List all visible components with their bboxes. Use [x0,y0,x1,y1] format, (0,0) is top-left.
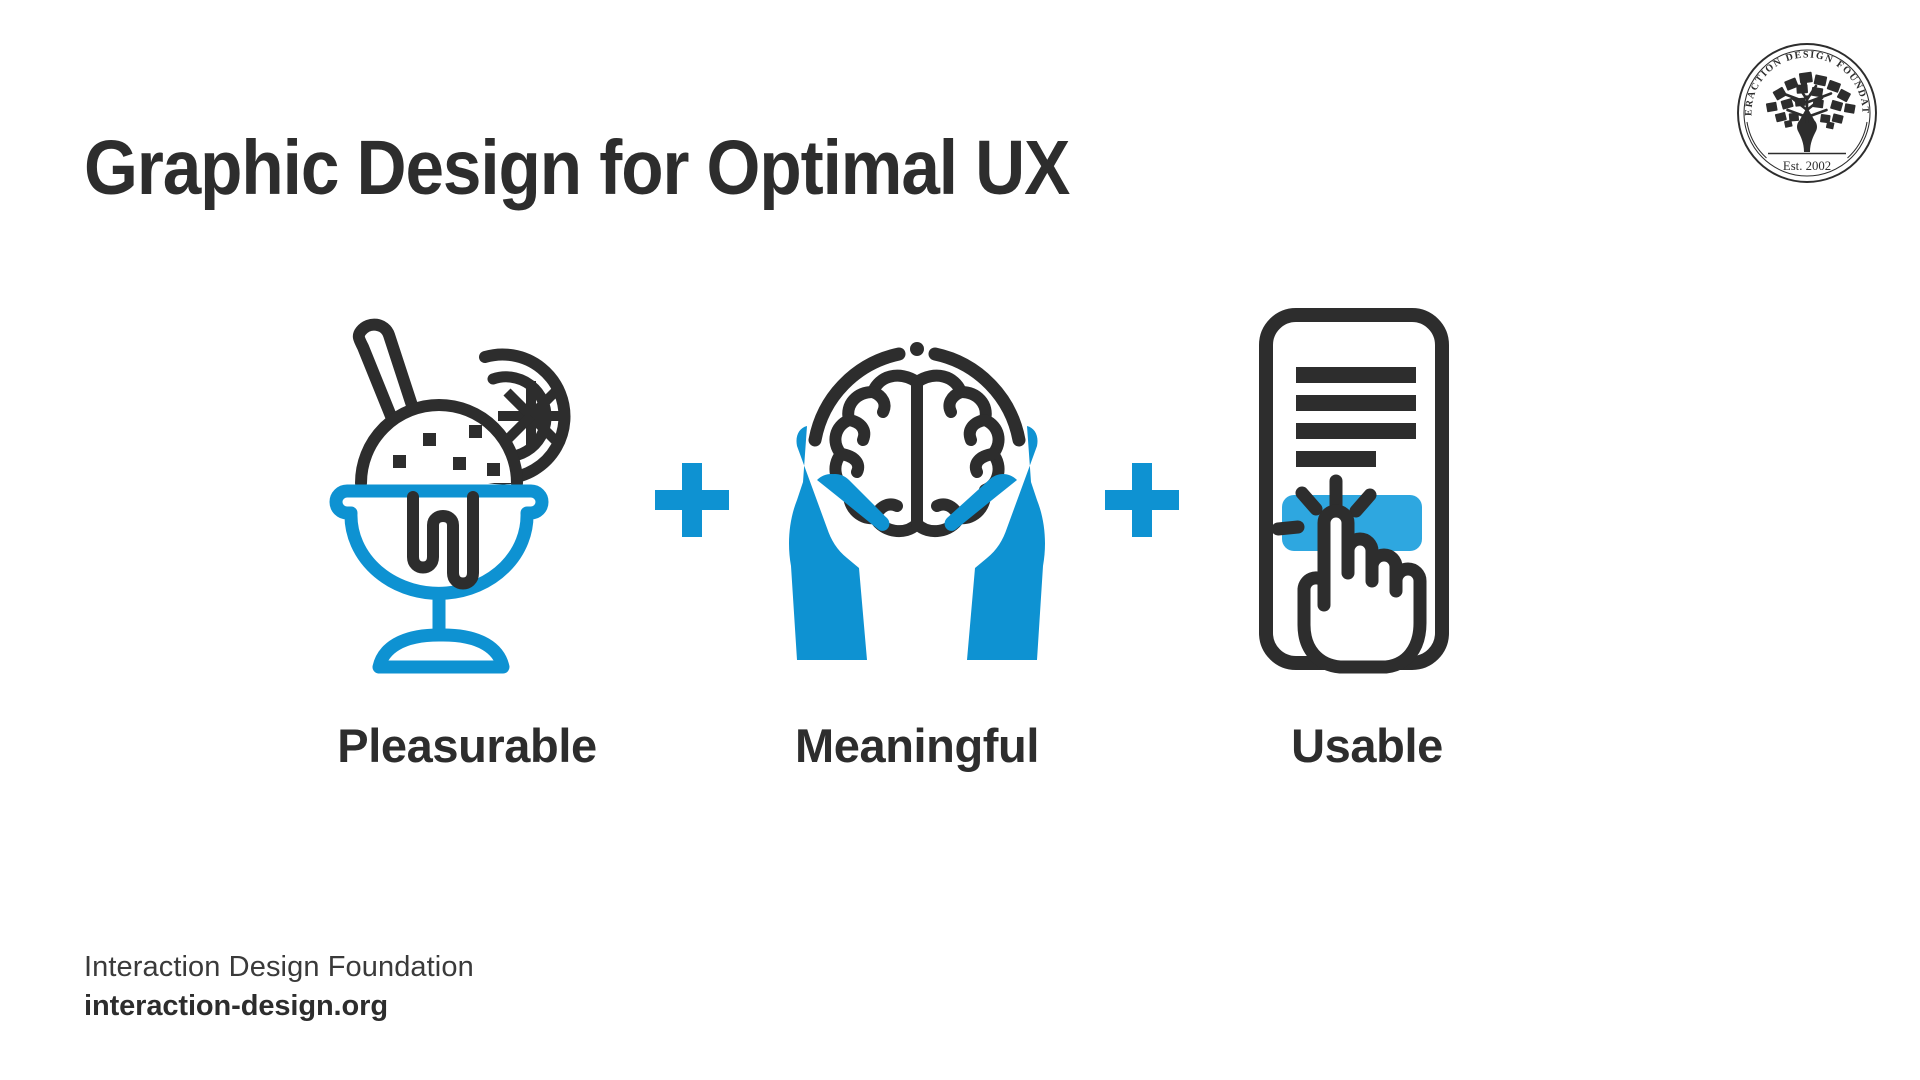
right-hand-fingers [945,474,1017,531]
footer-website[interactable]: interaction-design.org [84,987,474,1025]
concept-meaningful: Meaningful [752,300,1082,773]
concept-label-meaningful: Meaningful [795,718,1039,773]
brain-in-hands-icon [787,300,1047,700]
plus-icon [1105,463,1179,537]
slide-canvas: Graphic Design for Optimal UX INTERACTIO… [0,0,1920,1080]
concept-label-pleasurable: Pleasurable [337,718,596,773]
logo-established-text: Est. 2002 [1783,159,1831,173]
phone-tap-icon [1252,300,1482,700]
concept-pleasurable: Pleasurable [302,300,632,773]
footer: Interaction Design Foundation interactio… [84,948,474,1025]
ice-cream-scoop-part [361,405,517,483]
plus-icon [655,463,729,537]
concept-label-usable: Usable [1291,718,1443,773]
ice-cream-sundae-icon [317,300,617,700]
concept-usable: Usable [1202,300,1532,773]
plus-sign-1 [632,300,752,700]
left-hand-fingers [817,474,889,531]
concept-row: Pleasurable [0,300,1920,860]
footer-organization: Interaction Design Foundation [84,948,474,986]
syrup-drip-part [413,497,473,584]
plus-sign-2 [1082,300,1202,700]
idf-seal-logo: INTERACTION DESIGN FOUNDATION [1732,38,1882,188]
page-title: Graphic Design for Optimal UX [84,130,1069,207]
